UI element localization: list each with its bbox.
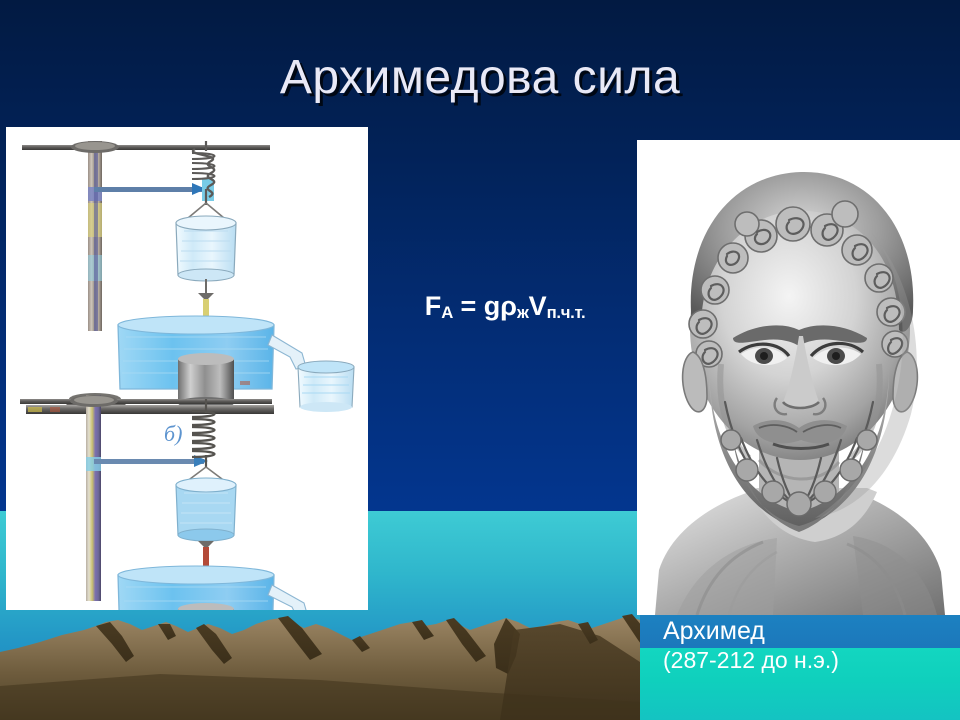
formula-volume-subscript: п.ч.т. bbox=[547, 303, 586, 322]
formula-force-symbol: F bbox=[425, 291, 442, 321]
caption-name: Архимед bbox=[663, 617, 839, 647]
formula-rho: ρ bbox=[500, 291, 517, 321]
apparatus-bottom bbox=[20, 381, 354, 610]
spring-icon bbox=[192, 411, 215, 457]
presentation-slide: Архимедова сила FA = gρжVп.ч.т. bbox=[0, 0, 960, 720]
apparatus-top bbox=[22, 141, 354, 414]
portrait-caption: Архимед (287-212 до н.э.) bbox=[663, 617, 839, 674]
beaker-icon bbox=[176, 216, 236, 281]
diagram-label-b: б) bbox=[164, 421, 182, 446]
archimedes-portrait-image bbox=[637, 140, 960, 615]
formula-force-subscript: A bbox=[441, 303, 453, 322]
formula-volume: V bbox=[529, 291, 547, 321]
portrait-icon bbox=[637, 140, 960, 615]
caption-dates: (287-212 до н.э.) bbox=[663, 647, 839, 674]
formula-g: g bbox=[484, 291, 501, 321]
formula-equals: = bbox=[461, 291, 477, 321]
formula-rho-subscript: ж bbox=[517, 303, 529, 322]
physics-experiment-image: б) bbox=[6, 127, 368, 610]
page-title: Архимедова сила bbox=[0, 50, 960, 105]
physics-apparatus-diagram: б) bbox=[6, 127, 368, 610]
beaker-icon bbox=[176, 478, 236, 541]
archimedes-formula: FA = gρжVп.ч.т. bbox=[380, 291, 630, 322]
overflow-cup bbox=[298, 361, 354, 412]
